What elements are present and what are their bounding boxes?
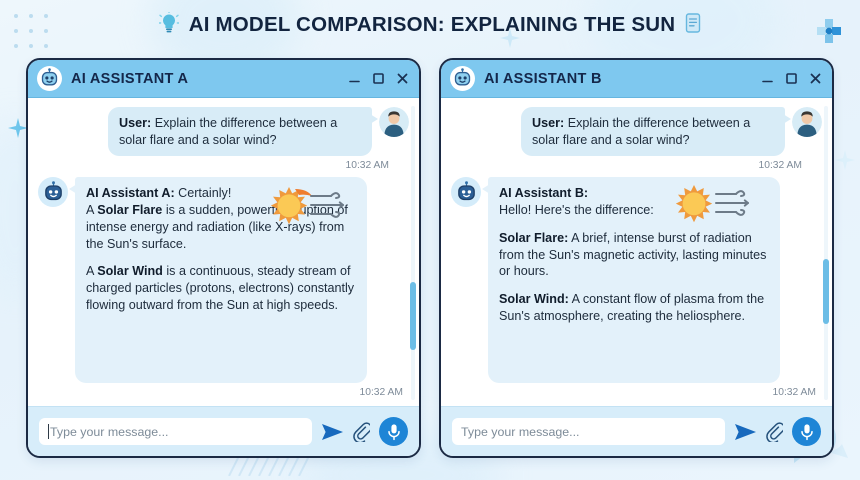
window-controls-b: [761, 72, 822, 85]
message-text: Explain the difference between a solar f…: [532, 116, 750, 147]
microphone-icon[interactable]: [379, 417, 408, 446]
message-sender: AI Assistant A:: [86, 186, 175, 200]
maximize-icon[interactable]: [785, 72, 798, 85]
message-row-bot: AI Assistant A: Certainly! A Solar Flare…: [38, 177, 409, 383]
text-caret: [48, 424, 49, 439]
user-avatar: [792, 107, 822, 137]
microphone-icon[interactable]: [792, 417, 821, 446]
titlebar-assistant-b: AI ASSISTANT B: [441, 60, 832, 98]
sun-and-wind-icon: [265, 183, 353, 240]
message-row-bot: AI Assistant B: Hello! Here's the differ…: [451, 177, 822, 383]
close-icon[interactable]: [809, 72, 822, 85]
close-icon[interactable]: [396, 72, 409, 85]
message-list-assistant-b[interactable]: User: Explain the difference between a s…: [441, 98, 832, 406]
message-row-user: User: Explain the difference between a s…: [38, 107, 409, 156]
titlebar-assistant-a: AI ASSISTANT A: [28, 60, 419, 98]
minimize-icon[interactable]: [761, 72, 774, 85]
chat-windows-container: AI ASSISTANT A User: Explain the differe…: [0, 58, 860, 464]
message-timestamp: 10:32 AM: [38, 387, 403, 398]
scrollbar-thumb[interactable]: [823, 259, 829, 324]
bot-message-bubble: AI Assistant A: Certainly! A Solar Flare…: [75, 177, 367, 383]
user-message-bubble: User: Explain the difference between a s…: [108, 107, 372, 156]
bot-avatar: [451, 177, 481, 207]
robot-avatar-icon: [450, 66, 475, 91]
document-icon: [685, 13, 701, 38]
sun-and-wind-icon: [670, 181, 758, 238]
message-sender: User:: [532, 116, 564, 130]
message-input[interactable]: Type your message...: [452, 418, 725, 445]
lightbulb-icon: [159, 12, 179, 39]
message-row-user: User: Explain the difference between a s…: [451, 107, 822, 156]
para2-pre: A: [86, 264, 97, 278]
message-scrollbar[interactable]: [410, 106, 416, 400]
composer-assistant-b: Type your message...: [441, 406, 832, 456]
para2-term: Solar Flare:: [499, 231, 568, 245]
message-sender: AI Assistant B:: [499, 186, 588, 200]
message-sender: User:: [119, 116, 151, 130]
message-timestamp: 10:32 AM: [38, 160, 389, 171]
user-avatar: [379, 107, 409, 137]
window-title-assistant-a: AI ASSISTANT A: [71, 71, 339, 87]
para1-term: Solar Flare: [97, 203, 162, 217]
robot-avatar-icon: [37, 66, 62, 91]
message-text: Explain the difference between a solar f…: [119, 116, 337, 147]
message-input-placeholder: Type your message...: [461, 425, 579, 439]
bot-message-bubble: AI Assistant B: Hello! Here's the differ…: [488, 177, 780, 383]
para2-term: Solar Wind: [97, 264, 163, 278]
para1-lead: Certainly!: [175, 186, 232, 200]
paperclip-icon[interactable]: [353, 422, 370, 442]
para3-term: Solar Wind:: [499, 292, 569, 306]
message-scrollbar[interactable]: [823, 106, 829, 400]
bot-avatar: [38, 177, 68, 207]
maximize-icon[interactable]: [372, 72, 385, 85]
window-controls-a: [348, 72, 409, 85]
message-input-placeholder: Type your message...: [50, 425, 168, 439]
paperclip-icon[interactable]: [766, 422, 783, 442]
chat-window-assistant-b: AI ASSISTANT B User: Explain the differe…: [439, 58, 834, 458]
chat-window-assistant-a: AI ASSISTANT A User: Explain the differe…: [26, 58, 421, 458]
window-title-assistant-b: AI ASSISTANT B: [484, 71, 752, 87]
minimize-icon[interactable]: [348, 72, 361, 85]
send-icon[interactable]: [321, 422, 344, 442]
user-message-bubble: User: Explain the difference between a s…: [521, 107, 785, 156]
scrollbar-thumb[interactable]: [410, 282, 416, 350]
bot-paragraph-2: A Solar Wind is a continuous, steady str…: [86, 263, 356, 313]
message-input[interactable]: Type your message...: [39, 418, 312, 445]
message-timestamp: 10:32 AM: [451, 387, 816, 398]
bot-paragraph-3: Solar Wind: A constant flow of plasma fr…: [499, 291, 769, 324]
send-icon[interactable]: [734, 422, 757, 442]
message-list-assistant-a[interactable]: User: Explain the difference between a s…: [28, 98, 419, 406]
page-title: AI MODEL COMPARISON: EXPLAINING THE SUN: [189, 13, 676, 37]
page-header: AI MODEL COMPARISON: EXPLAINING THE SUN: [0, 8, 860, 42]
message-timestamp: 10:32 AM: [451, 160, 802, 171]
scrollbar-track[interactable]: [824, 106, 828, 400]
scrollbar-track[interactable]: [411, 106, 415, 400]
para1-body: Hello! Here's the difference:: [499, 203, 654, 217]
composer-assistant-a: Type your message...: [28, 406, 419, 456]
para1-pre: A: [86, 203, 97, 217]
